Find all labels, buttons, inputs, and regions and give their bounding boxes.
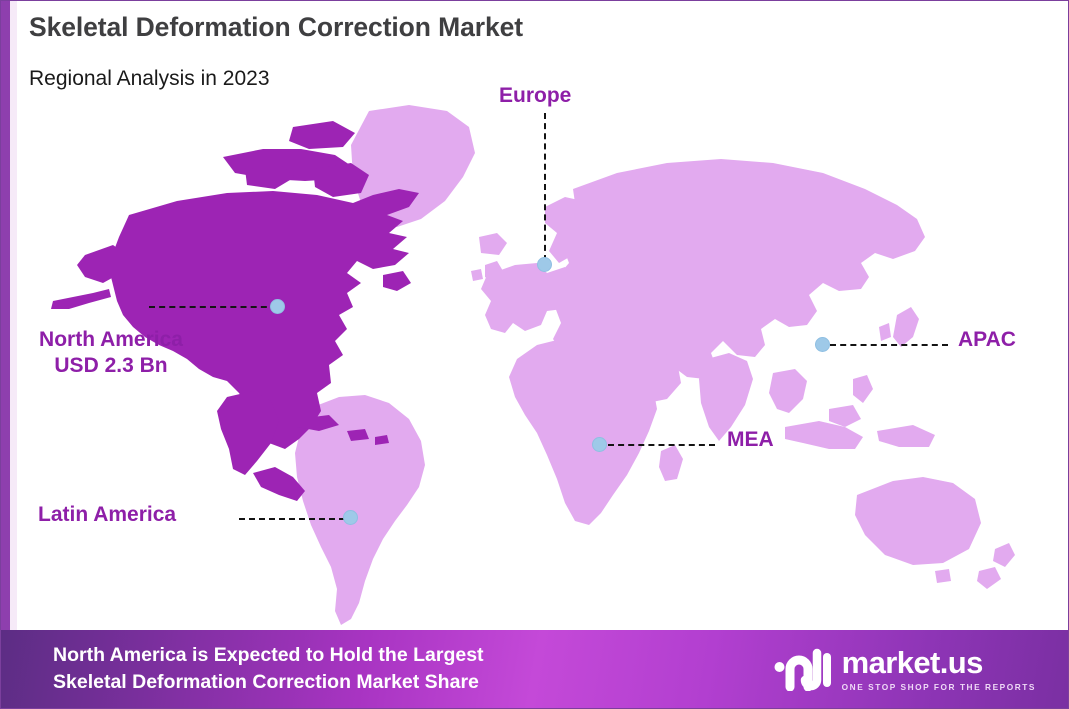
logo-wordmark: market.us (842, 647, 983, 678)
connector-apac (830, 344, 948, 346)
connector-mea (608, 444, 715, 446)
region-label-europe: Europe (499, 83, 571, 109)
region-label-latin-america-name: Latin America (38, 503, 176, 526)
logo-tagline: ONE STOP SHOP FOR THE REPORTS (842, 682, 1036, 692)
region-label-europe-name: Europe (499, 84, 571, 107)
region-label-north-america: North America USD 2.3 Bn (15, 327, 207, 378)
logo-text-block: market.us ONE STOP SHOP FOR THE REPORTS (842, 647, 1036, 692)
footer-banner: North America is Expected to Hold the La… (1, 630, 1069, 708)
region-label-apac: APAC (958, 327, 1016, 353)
marker-mea[interactable] (592, 437, 607, 452)
hispaniola-shape (347, 429, 369, 441)
ireland-shape (471, 269, 483, 281)
region-label-mea-name: MEA (727, 428, 774, 451)
region-label-mea: MEA (727, 427, 774, 453)
left-accent-bar (1, 1, 10, 709)
connector-north-america (149, 306, 277, 308)
header: Skeletal Deformation Correction Market R… (29, 11, 789, 92)
page-subtitle: Regional Analysis in 2023 (29, 66, 789, 92)
region-value-north-america: USD 2.3 Bn (15, 353, 207, 379)
footer-banner-line1: North America is Expected to Hold the La… (53, 642, 484, 669)
page-title: Skeletal Deformation Correction Market (29, 11, 789, 44)
marker-latin-america[interactable] (343, 510, 358, 525)
marker-north-america[interactable] (270, 299, 285, 314)
left-inner-gap (10, 1, 17, 709)
footer-banner-text: North America is Expected to Hold the La… (53, 642, 484, 696)
connector-europe (544, 113, 546, 261)
connector-latin-america (239, 518, 345, 520)
region-label-north-america-name: North America (39, 328, 183, 351)
infographic-container: Skeletal Deformation Correction Market R… (0, 0, 1069, 709)
marker-apac[interactable] (815, 337, 830, 352)
region-label-apac-name: APAC (958, 328, 1016, 351)
region-label-latin-america: Latin America (38, 502, 176, 528)
market-us-logo[interactable]: market.us ONE STOP SHOP FOR THE REPORTS (773, 647, 1044, 692)
tasmania-shape (935, 569, 951, 583)
footer-banner-line2: Skeletal Deformation Correction Market S… (53, 669, 484, 696)
market-us-logo-mark-icon (773, 647, 831, 691)
marker-europe[interactable] (537, 257, 552, 272)
